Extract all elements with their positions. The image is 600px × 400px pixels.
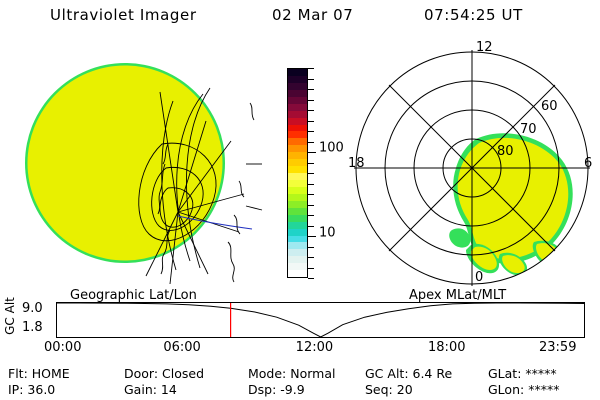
footer-label-glon: GLon: xyxy=(488,382,524,397)
colorbar-band xyxy=(288,97,307,104)
time-axis-label: 18:00 xyxy=(428,340,465,355)
observation-time: 07:54:25 UT xyxy=(424,6,523,24)
footer-field-glon: GLon: ***** xyxy=(488,382,559,397)
footer-value-dsp: -9.9 xyxy=(276,382,304,397)
observation-date: 02 Mar 07 xyxy=(272,6,353,24)
footer-field-door: Door: Closed xyxy=(124,366,204,381)
colorbar-label-10: 10 xyxy=(319,226,336,241)
strip-title-geographic: Geographic Lat/Lon xyxy=(70,288,197,303)
colorbar-band xyxy=(288,201,307,208)
colorbar-band xyxy=(288,90,307,97)
footer-field-gain: Gain: 14 xyxy=(124,382,177,397)
colorbar-band xyxy=(288,152,307,159)
colorbar-tick-minor xyxy=(308,110,314,111)
colorbar-band xyxy=(288,229,307,236)
colorbar-band xyxy=(288,131,307,138)
colorbar-tick-minor xyxy=(308,194,314,195)
disk-offlimb-coastline xyxy=(228,103,262,282)
colorbar-tick-minor xyxy=(308,142,314,143)
footer-value-seq: 20 xyxy=(393,382,413,397)
footer-label-ip: IP: xyxy=(8,382,23,397)
colorbar-tick-minor xyxy=(308,205,314,206)
footer-field-flt: Flt: HOME xyxy=(8,366,70,381)
colorbar-tick-minor xyxy=(308,184,314,185)
strip-chart-plot-area[interactable] xyxy=(56,302,585,338)
colorbar-band xyxy=(288,270,307,277)
colorbar-tick-minor xyxy=(308,89,314,90)
colorbar-tick-minor xyxy=(308,278,314,279)
colorbar-tick-minor xyxy=(308,215,314,216)
footer-label-seq: Seq: xyxy=(365,382,393,397)
geographic-disk-panel[interactable] xyxy=(18,46,264,290)
polar-label-mlt-18: 18 xyxy=(348,156,365,171)
colorbar-band xyxy=(288,173,307,180)
colorbar-tick-minor xyxy=(308,257,314,258)
status-footer: Flt: HOMEDoor: ClosedMode: NormalGC Alt:… xyxy=(0,366,600,400)
colorbar-band xyxy=(288,256,307,263)
time-axis-label: 00:00 xyxy=(44,340,81,355)
polar-label-mlt-12: 12 xyxy=(476,40,493,55)
geographic-disk-image[interactable] xyxy=(18,46,264,290)
footer-value-gc-alt: 6.4 Re xyxy=(409,366,453,381)
footer-label-gc-alt: GC Alt: xyxy=(365,366,409,381)
colorbar-band xyxy=(288,125,307,132)
colorbar-band xyxy=(288,76,307,83)
colorbar-tick-minor xyxy=(308,226,314,227)
colorbar-band xyxy=(288,263,307,270)
strip-chart-svg[interactable] xyxy=(57,303,584,337)
strip-chart-ylabel: GC Alt xyxy=(3,293,17,339)
colorbar-band xyxy=(288,145,307,152)
footer-value-glon: ***** xyxy=(524,382,559,397)
colorbar-band xyxy=(288,194,307,201)
polar-label-lat-60: 60 xyxy=(541,99,558,114)
footer-field-dsp: Dsp: -9.9 xyxy=(248,382,305,397)
polar-label-mlt-6: 6 xyxy=(584,156,592,171)
colorbar-band xyxy=(288,159,307,166)
colorbar-band xyxy=(288,138,307,145)
footer-field-mode: Mode: Normal xyxy=(248,366,335,381)
colorbar-gradient[interactable] xyxy=(287,68,308,278)
colorbar-tick-minor xyxy=(308,268,314,269)
polar-plot[interactable] xyxy=(348,44,596,292)
gc-alt-trace xyxy=(57,303,584,337)
colorbar-band xyxy=(288,83,307,90)
colorbar-band xyxy=(288,222,307,229)
colorbar-band xyxy=(288,104,307,111)
footer-label-mode: Mode: xyxy=(248,366,286,381)
colorbar-tick-minor xyxy=(308,121,314,122)
footer-label-flt: Flt: xyxy=(8,366,28,381)
orbit-strip-chart-panel[interactable]: GC Alt 9.0 1.8 Geographic Lat/Lon Apex M… xyxy=(0,292,600,346)
colorbar-panel: photon cm-2s-1 100 10 xyxy=(262,46,342,290)
time-axis-label: 06:00 xyxy=(163,340,200,355)
time-axis-label: 23:59 xyxy=(539,340,576,355)
colorbar-tick-minor xyxy=(308,163,314,164)
footer-label-gain: Gain: xyxy=(124,382,157,397)
footer-field-seq: Seq: 20 xyxy=(365,382,413,397)
uv-imager-window: Ultraviolet Imager 02 Mar 07 07:54:25 UT xyxy=(0,0,600,400)
colorbar-tick-minor xyxy=(308,79,314,80)
colorbar-band xyxy=(288,166,307,173)
polar-label-mlt-0: 0 xyxy=(475,270,483,285)
colorbar-band xyxy=(288,249,307,256)
colorbar-band xyxy=(288,180,307,187)
footer-field-ip: IP: 36.0 xyxy=(8,382,55,397)
colorbar-band xyxy=(288,242,307,249)
colorbar-tick-minor xyxy=(308,131,314,132)
footer-field-gc-alt: GC Alt: 6.4 Re xyxy=(365,366,452,381)
polar-label-lat-80: 80 xyxy=(497,144,514,159)
apex-polar-panel[interactable]: 12 18 6 0 60 70 80 xyxy=(348,44,596,292)
polar-mlt-spokes xyxy=(354,50,590,286)
footer-value-gain: 14 xyxy=(157,382,177,397)
footer-value-ip: 36.0 xyxy=(23,382,55,397)
footer-label-door: Door: xyxy=(124,366,158,381)
colorbar-band xyxy=(288,111,307,118)
footer-label-dsp: Dsp: xyxy=(248,382,276,397)
footer-label-glat: GLat: xyxy=(488,366,521,381)
instrument-title: Ultraviolet Imager xyxy=(50,6,197,24)
colorbar-band xyxy=(288,69,307,76)
colorbar-label-100: 100 xyxy=(319,141,344,156)
colorbar-band xyxy=(288,215,307,222)
colorbar-tick-major xyxy=(308,236,316,237)
colorbar-tick-minor xyxy=(308,100,314,101)
polar-label-lat-70: 70 xyxy=(520,122,537,137)
colorbar-tick-minor xyxy=(308,173,314,174)
footer-value-door: Closed xyxy=(158,366,204,381)
time-axis-label: 12:00 xyxy=(296,340,333,355)
footer-value-flt: HOME xyxy=(28,366,70,381)
strip-title-apex: Apex MLat/MLT xyxy=(409,288,506,303)
header-bar: Ultraviolet Imager 02 Mar 07 07:54:25 UT xyxy=(0,6,600,32)
colorbar-band xyxy=(288,118,307,125)
colorbar-band xyxy=(288,236,307,243)
colorbar-band xyxy=(288,187,307,194)
colorbar-tick-minor xyxy=(308,247,314,248)
colorbar-tick-minor xyxy=(308,68,314,69)
footer-value-mode: Normal xyxy=(286,366,335,381)
colorbar-tick-major xyxy=(308,152,316,153)
colorbar-band xyxy=(288,208,307,215)
footer-field-glat: GLat: ***** xyxy=(488,366,557,381)
footer-value-glat: ***** xyxy=(521,366,556,381)
